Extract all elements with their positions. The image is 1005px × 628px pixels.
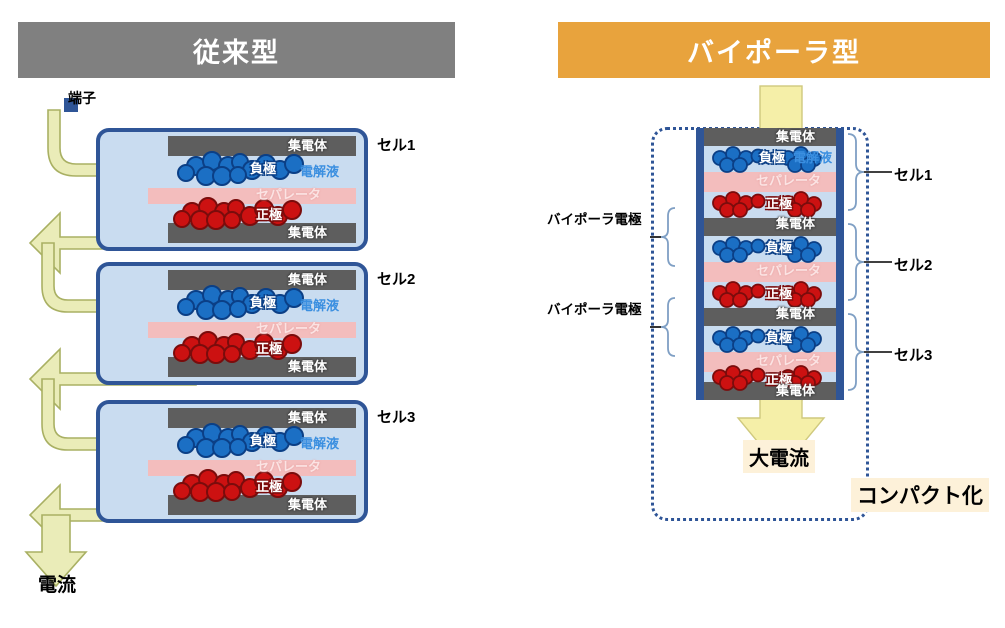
cell2-positive-label: 正極: [256, 342, 282, 355]
compact-label: コンパクト化: [851, 478, 989, 512]
cell3-electrolyte-label: 電解液: [300, 437, 339, 450]
output-current-label: 電流: [38, 570, 76, 597]
cell1-electrolyte-label: 電解液: [300, 165, 339, 178]
cell1-collector-bottom-label: 集電体: [288, 226, 327, 239]
bipolar-electrode-label-1: バイポーラ電極: [547, 208, 642, 228]
bracket-cell-3: [848, 314, 864, 390]
cell3-separator-label: セパレータ: [256, 460, 321, 473]
cell2-electrolyte-label: 電解液: [300, 299, 339, 312]
terminal-label: 端子: [68, 88, 96, 108]
cell1-particles: [100, 132, 372, 255]
cell3-collector-bottom-label: 集電体: [288, 498, 327, 511]
negative-particles-cell2: [178, 286, 303, 319]
cell1-separator-label: セパレータ: [256, 188, 321, 201]
bipolar-electrode-label-2: バイポーラ電極: [547, 298, 642, 318]
cell3-positive-label: 正極: [256, 480, 282, 493]
cell1-positive-label: 正極: [256, 208, 282, 221]
bipolar-cell-2-tag: セル2: [894, 254, 932, 275]
conventional-cell-1: 集電体 負極 電解液 セパレータ 正極 集電体: [96, 128, 368, 251]
negative-particles-cell1: [178, 152, 303, 185]
cell3-negative-label: 負極: [250, 434, 276, 447]
cell2-negative-label: 負極: [250, 296, 276, 309]
bracket-bipolar-electrode-1: [661, 208, 675, 266]
cell2-particles: [100, 266, 372, 389]
conventional-diagram: 端子 集電体 負極 電解: [0, 0, 500, 628]
conventional-cell-3: 集電体 負極 電解液 セパレータ 正極 集電体: [96, 400, 368, 523]
conventional-cell-1-tag: セル1: [377, 134, 415, 155]
conventional-cell-2-tag: セル2: [377, 268, 415, 289]
cell3-collector-top-label: 集電体: [288, 411, 327, 424]
cell1-negative-label: 負極: [250, 162, 276, 175]
cell3-particles: [100, 404, 372, 527]
conventional-cell-3-tag: セル3: [377, 406, 415, 427]
big-current-label: 大電流: [743, 440, 815, 473]
cell2-collector-bottom-label: 集電体: [288, 360, 327, 373]
bipolar-cell-1-tag: セル1: [894, 164, 932, 185]
diagram-canvas: 従来型 バイポーラ型: [0, 0, 1005, 628]
bracket-cell-1: [848, 134, 864, 210]
cell1-collector-top-label: 集電体: [288, 139, 327, 152]
conventional-cell-2: 集電体 負極 電解液 セパレータ 正極 集電体: [96, 262, 368, 385]
cell2-collector-top-label: 集電体: [288, 273, 327, 286]
bracket-cell-2: [848, 224, 864, 300]
negative-particles-cell3: [178, 424, 303, 457]
bipolar-diagram: 集電体 負極 電解液 セパレータ 正極 集電体 負極 セパレータ 正極 集電体 …: [500, 0, 1005, 628]
bracket-bipolar-electrode-2: [661, 298, 675, 356]
bipolar-cell-3-tag: セル3: [894, 344, 932, 365]
cell2-separator-label: セパレータ: [256, 322, 321, 335]
